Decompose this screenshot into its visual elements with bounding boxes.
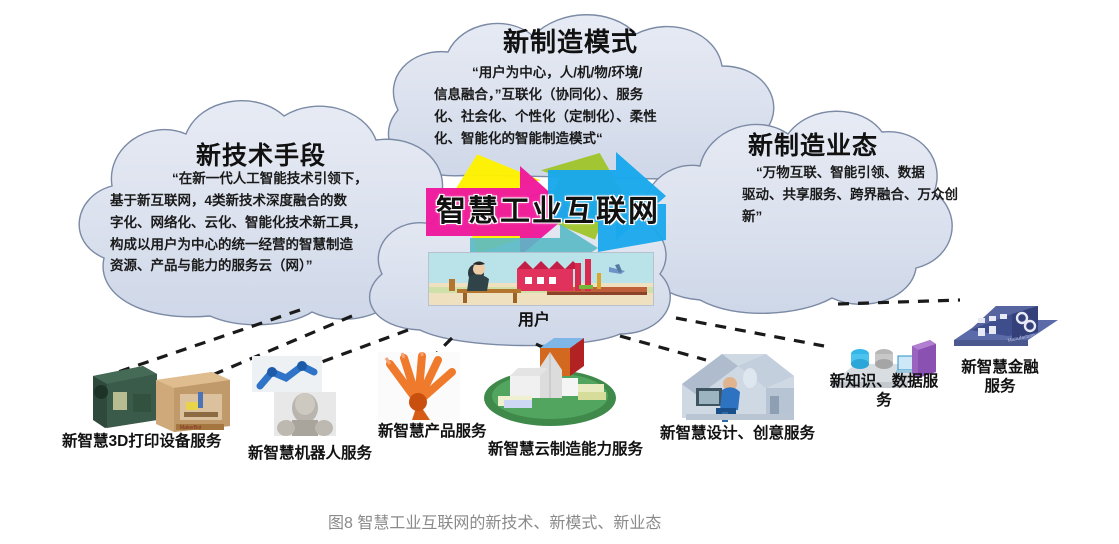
- user-label: 用户: [518, 306, 550, 330]
- center-headline: 智慧工业互联网: [436, 186, 660, 230]
- figure-canvas: 智慧工业互联网 用户 新技术手段 “在新一代人工智能技术引领下， 基于新互联网，…: [0, 0, 1119, 544]
- factory-illustration: [428, 252, 654, 306]
